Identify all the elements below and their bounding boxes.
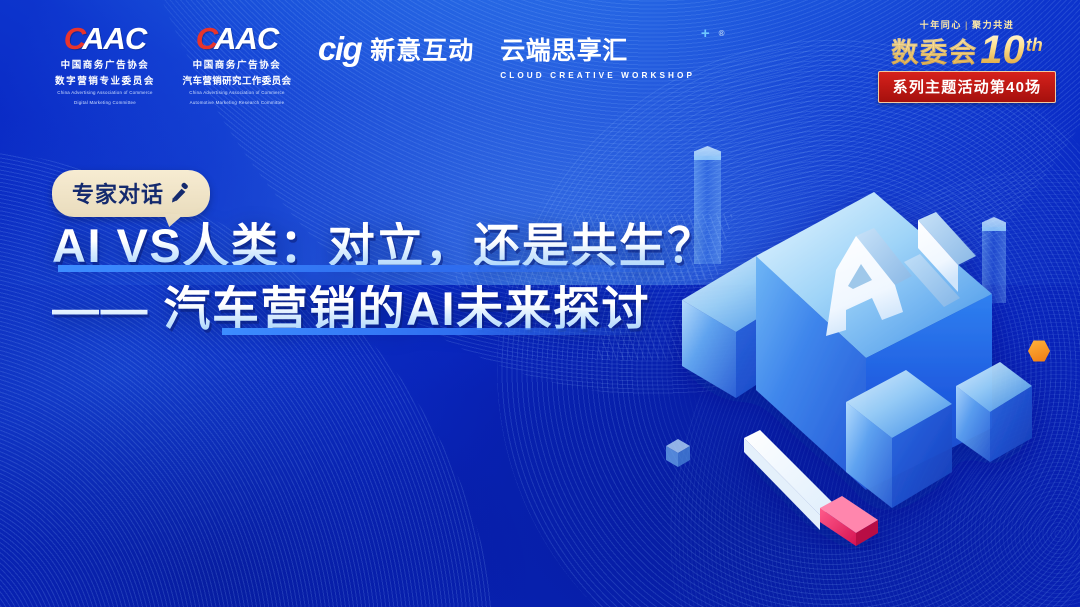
logo-cig: cig 新意互动 <box>318 22 474 68</box>
logo-cn-line2: 数字营销专业委员会 <box>46 73 164 87</box>
logo-caac-digital-marketing: CAAC 中国商务广告协会 数字营销专业委员会 China Advertisin… <box>46 22 164 107</box>
event-series-ribbon: 系列主题活动第40场 <box>878 71 1056 103</box>
anniversary-badge: 十年同心|聚力共进 数委会 10 th 系列主题活动第40场 <box>878 18 1056 103</box>
cloud-cn-name-wrap: 云端思享汇 + ® <box>500 31 695 67</box>
expert-dialog-pill: 专家对话 <box>52 170 210 217</box>
logo-en-line2: Digital Marketing Committee <box>46 100 164 107</box>
logo-en-line1: China Advertising Association of Commerc… <box>178 90 296 97</box>
expert-dialog-badge: 专家对话 <box>52 170 210 217</box>
headline-underline <box>58 265 722 272</box>
logo-cn-line1: 中国商务广告协会 <box>178 57 296 71</box>
headline-underline <box>222 328 654 335</box>
anniversary-number: 10 <box>980 30 1025 70</box>
sparkle-plus-icon: + <box>701 25 710 42</box>
logo-cn-line1: 中国商务广告协会 <box>46 57 164 71</box>
anniversary-slogan: 十年同心|聚力共进 <box>878 18 1056 31</box>
background-bottom-left-shade <box>0 364 540 607</box>
organization-short-name: 数委会 <box>891 31 978 70</box>
logo-en-line1: China Advertising Association of Commerc… <box>46 90 164 97</box>
headline-line-2-wrap: —— 汽车营销的AI未来探讨 <box>52 285 650 332</box>
cig-cn-name: 新意互动 <box>370 31 474 67</box>
slogan-separator: | <box>965 20 969 30</box>
headline-line-1-wrap: AI VS人类：对立，还是共生？ <box>52 222 716 269</box>
logo-caac-automotive-marketing: CAAC 中国商务广告协会 汽车营销研究工作委员会 China Advertis… <box>178 22 296 107</box>
cloud-cn-name: 云端思享汇 <box>500 37 628 65</box>
caac-letters-aac: AAC <box>82 23 146 54</box>
mini-cube-icon <box>666 439 690 467</box>
caac-wordmark: CAAC <box>178 22 296 54</box>
anniversary-main-lockup: 数委会 10 th <box>878 32 1056 68</box>
partner-logo-row: CAAC 中国商务广告协会 数字营销专业委员会 China Advertisin… <box>46 22 695 107</box>
anniversary-ordinal: th <box>1026 36 1043 54</box>
cig-wordmark: cig <box>318 30 361 68</box>
ai-cube-label: AI <box>1060 190 1061 191</box>
logo-cloud-creative-workshop: 云端思享汇 + ® CLOUD CREATIVE WORKSHOP <box>500 22 695 80</box>
caac-letters-aac: AAC <box>214 23 278 54</box>
caac-wordmark: CAAC <box>46 22 164 54</box>
expert-dialog-label: 专家对话 <box>72 177 164 209</box>
slogan-left: 十年同心 <box>920 20 962 30</box>
registered-mark-icon: ® <box>719 29 725 38</box>
headline-line-2: —— 汽车营销的AI未来探讨 <box>52 285 650 332</box>
ai-cube-artwork: AI <box>660 190 1060 550</box>
ai-cube-svg <box>660 190 1060 550</box>
logo-cn-line2: 汽车营销研究工作委员会 <box>178 73 296 87</box>
poster-canvas: CAAC 中国商务广告协会 数字营销专业委员会 China Advertisin… <box>0 0 1080 607</box>
microphone-icon <box>170 182 192 204</box>
cloud-en-name: CLOUD CREATIVE WORKSHOP <box>500 71 695 80</box>
headline-line-1: AI VS人类：对立，还是共生？ <box>52 222 716 269</box>
logo-en-line2: Automotive Marketing Research Committee <box>178 100 296 107</box>
